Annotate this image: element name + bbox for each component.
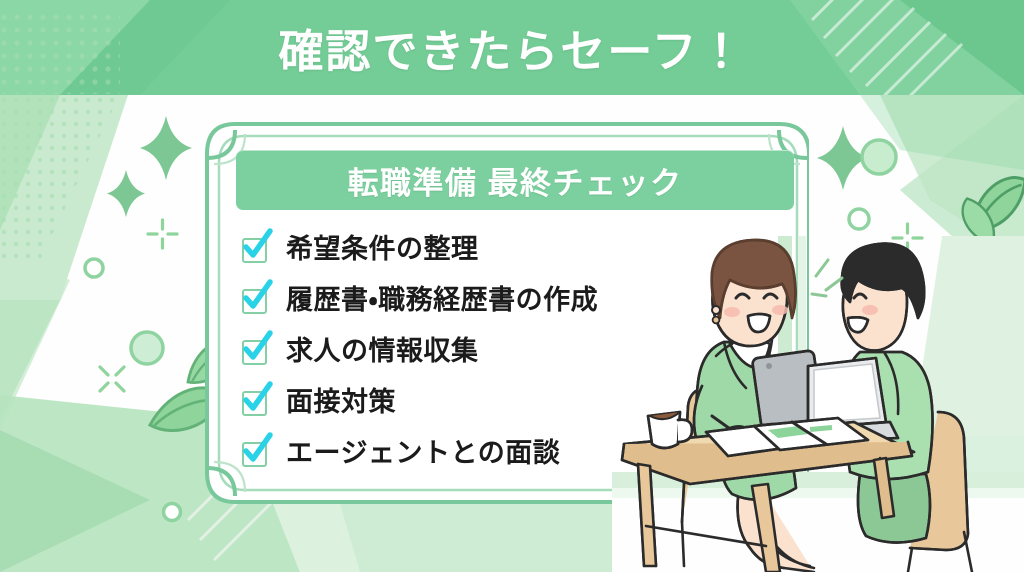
card-header: 転職準備 最終チェック bbox=[236, 150, 794, 210]
checkmark-icon bbox=[239, 432, 275, 468]
list-item[interactable]: 履歴書・職務経歴書の作成 bbox=[240, 275, 670, 325]
page-title: 確認できたらセーフ！ bbox=[0, 0, 1024, 95]
checkbox-checked-icon[interactable] bbox=[240, 285, 270, 315]
checkmark-icon bbox=[239, 279, 275, 315]
checklist: 希望条件の整理 履歴書・職務経歴書の作成 求人の情報収集 bbox=[240, 224, 670, 479]
card-header-title: 転職準備 最終チェック bbox=[347, 158, 682, 203]
checkbox-checked-icon[interactable] bbox=[240, 234, 270, 264]
poster-canvas: 確認できたらセーフ！ 転職準備 最終チェック bbox=[0, 0, 1024, 572]
list-item-label: 求人の情報収集 bbox=[286, 338, 479, 365]
banner: 確認できたらセーフ！ bbox=[0, 0, 1024, 95]
career-consultation-illustration bbox=[612, 236, 1024, 572]
checkmark-icon bbox=[239, 381, 275, 417]
list-item-label: 履歴書・職務経歴書の作成 bbox=[286, 287, 598, 314]
checkmark-icon bbox=[239, 330, 275, 366]
list-item[interactable]: 求人の情報収集 bbox=[240, 326, 670, 376]
checkmark-icon bbox=[239, 228, 275, 264]
list-item[interactable]: 面接対策 bbox=[240, 377, 670, 427]
list-item-label: エージェントとの面談 bbox=[286, 440, 560, 467]
list-item[interactable]: 希望条件の整理 bbox=[240, 224, 670, 274]
list-item[interactable]: エージェントとの面談 bbox=[240, 428, 670, 478]
list-item-label: 面接対策 bbox=[286, 389, 396, 416]
list-item-label: 希望条件の整理 bbox=[286, 236, 479, 263]
checkbox-checked-icon[interactable] bbox=[240, 438, 270, 468]
checkbox-checked-icon[interactable] bbox=[240, 387, 270, 417]
checkbox-checked-icon[interactable] bbox=[240, 336, 270, 366]
